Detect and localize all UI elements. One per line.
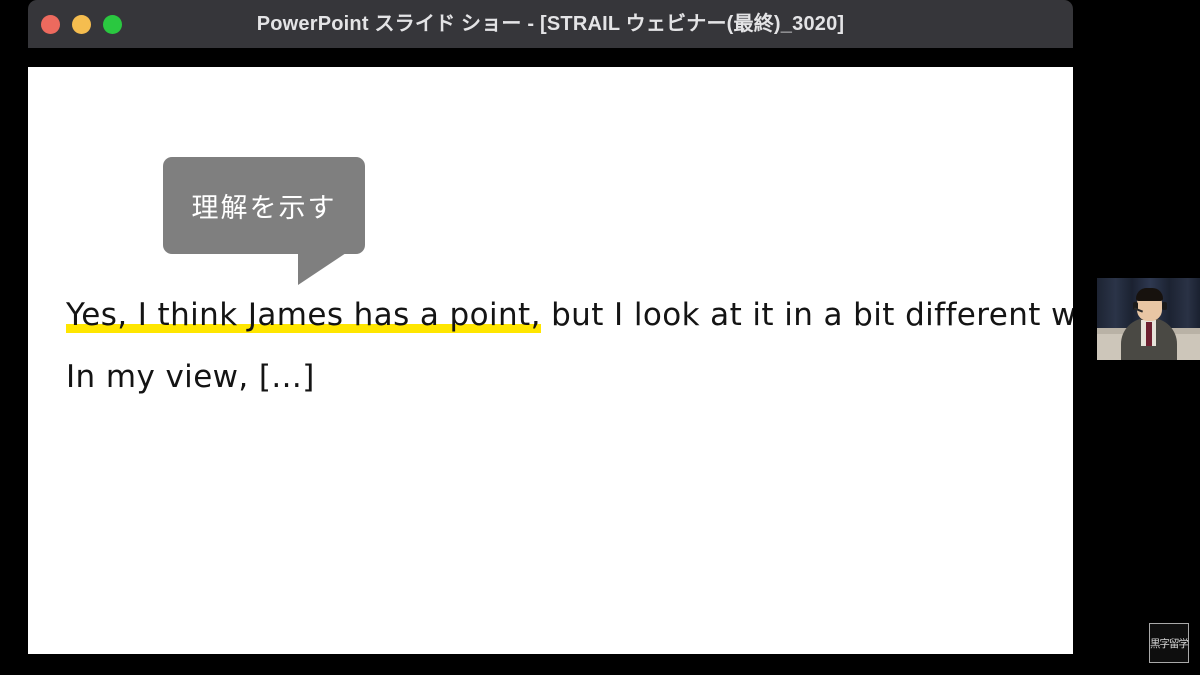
screen-root: PowerPoint スライド ショー - [STRAIL ウェビナー(最終)_… bbox=[0, 0, 1200, 675]
watermark-glyphs: 黒字留学 bbox=[1150, 638, 1188, 648]
slide-line-2: In my view, [...] bbox=[66, 359, 1066, 395]
callout-bubble-tail-icon bbox=[298, 253, 346, 285]
participant-video-thumbnail[interactable] bbox=[1097, 278, 1200, 360]
watermark-logo: 黒字留学 bbox=[1149, 623, 1189, 663]
video-person-tie bbox=[1146, 322, 1152, 346]
video-person-hair bbox=[1136, 288, 1163, 301]
window-title: PowerPoint スライド ショー - [STRAIL ウェビナー(最終)_… bbox=[28, 0, 1073, 48]
slide-letterbox-top bbox=[28, 48, 1073, 67]
slide-canvas: 理解を示す Yes, I think James has a point, bu… bbox=[28, 67, 1073, 654]
callout-bubble: 理解を示す bbox=[163, 157, 368, 287]
headset-icon-right bbox=[1162, 302, 1167, 310]
callout-bubble-label: 理解を示す bbox=[163, 157, 365, 254]
window-titlebar[interactable]: PowerPoint スライド ショー - [STRAIL ウェビナー(最終)_… bbox=[28, 0, 1073, 48]
powerpoint-slideshow-window: PowerPoint スライド ショー - [STRAIL ウェビナー(最終)_… bbox=[28, 0, 1073, 672]
slide-letterbox-bottom bbox=[28, 654, 1073, 672]
highlighted-phrase: Yes, I think James has a point, bbox=[66, 297, 541, 333]
slide-line-1-rest: but I look at it in a bit different way. bbox=[541, 297, 1073, 333]
slide-body-text: Yes, I think James has a point, but I lo… bbox=[66, 297, 1066, 395]
slide-line-1: Yes, I think James has a point, but I lo… bbox=[66, 297, 1066, 333]
